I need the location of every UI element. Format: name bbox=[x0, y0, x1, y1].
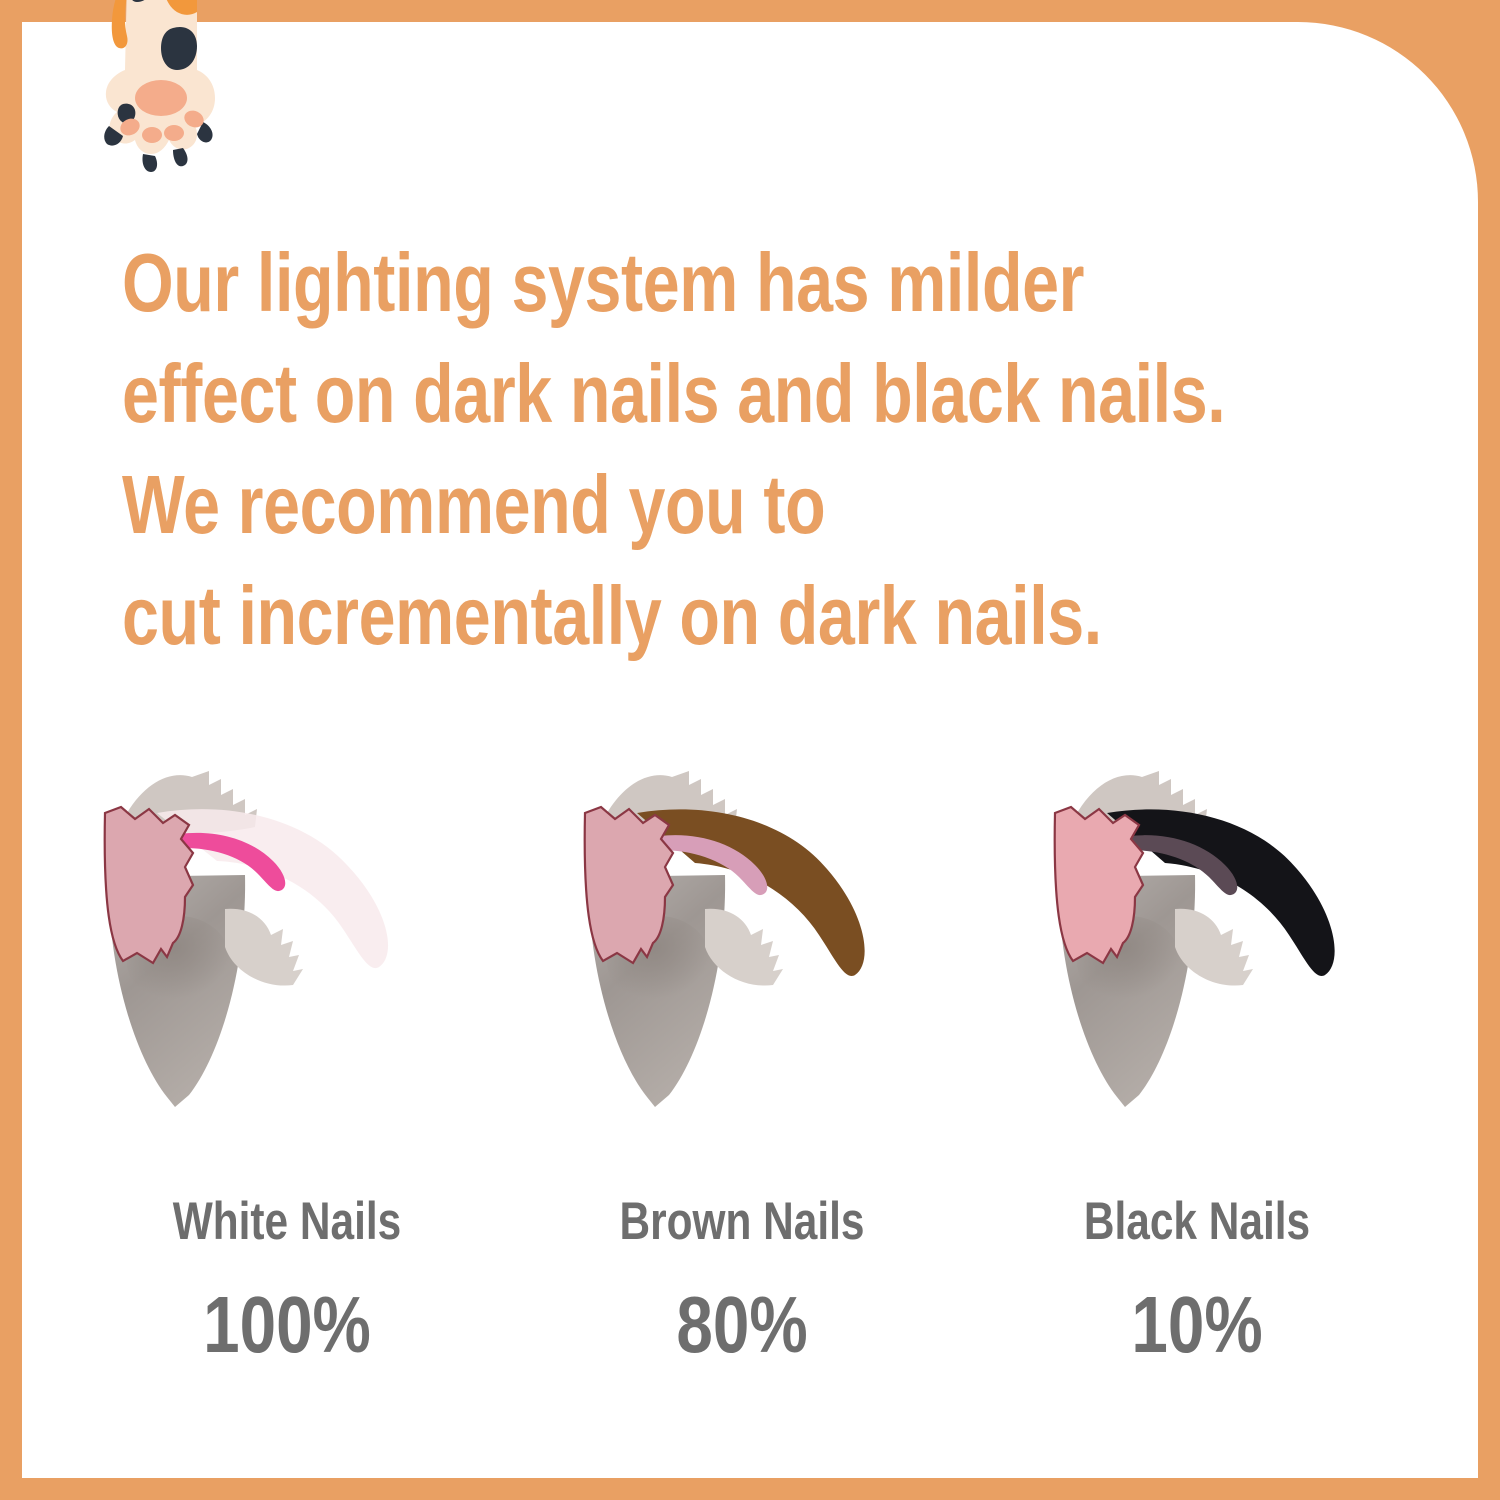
paw-pad-center bbox=[135, 80, 187, 116]
fur-tuft-lower bbox=[225, 909, 303, 986]
infographic-canvas: Our lighting system has milder effect on… bbox=[0, 0, 1500, 1500]
caption-brown: Brown Nails 80% bbox=[542, 1192, 942, 1370]
nail-illustration-white bbox=[97, 757, 517, 1137]
heading-line-2: effect on dark nails and black nails. bbox=[122, 338, 1162, 449]
fur-tuft-lower bbox=[1175, 909, 1253, 986]
fur-tuft-lower bbox=[705, 909, 783, 986]
nail-illustration-row bbox=[22, 757, 1478, 1137]
heading-line-1: Our lighting system has milder bbox=[122, 227, 1162, 338]
nail-illustration-brown bbox=[577, 757, 997, 1137]
caption-black: Black Nails 10% bbox=[997, 1192, 1397, 1370]
paw-pad-toe-2 bbox=[142, 127, 162, 143]
cat-paw-svg bbox=[103, 0, 221, 178]
paw-claw-bottom-left bbox=[142, 154, 157, 172]
caption-percent-white: 100% bbox=[123, 1280, 451, 1370]
heading-line-3: We recommend you to bbox=[122, 449, 1162, 560]
caption-row: White Nails 100% Brown Nails 80% Black N… bbox=[22, 1192, 1478, 1412]
black-nail-diagram bbox=[1047, 757, 1467, 1137]
brown-nail-diagram bbox=[577, 757, 997, 1137]
cat-paw-icon bbox=[103, 0, 221, 178]
nail-illustration-black bbox=[1047, 757, 1467, 1137]
heading-line-4: cut incrementally on dark nails. bbox=[122, 560, 1162, 671]
paw-pad-toe-3 bbox=[164, 125, 184, 141]
caption-percent-black: 10% bbox=[1033, 1280, 1361, 1370]
heading-block: Our lighting system has milder effect on… bbox=[122, 227, 1422, 671]
white-content-panel: Our lighting system has milder effect on… bbox=[22, 22, 1478, 1478]
caption-label-black: Black Nails bbox=[1037, 1192, 1357, 1252]
caption-label-brown: Brown Nails bbox=[582, 1192, 902, 1252]
caption-percent-brown: 80% bbox=[578, 1280, 906, 1370]
caption-white: White Nails 100% bbox=[87, 1192, 487, 1370]
white-nail-diagram bbox=[97, 757, 517, 1137]
caption-label-white: White Nails bbox=[127, 1192, 447, 1252]
paw-claw-bottom-right bbox=[173, 148, 188, 166]
